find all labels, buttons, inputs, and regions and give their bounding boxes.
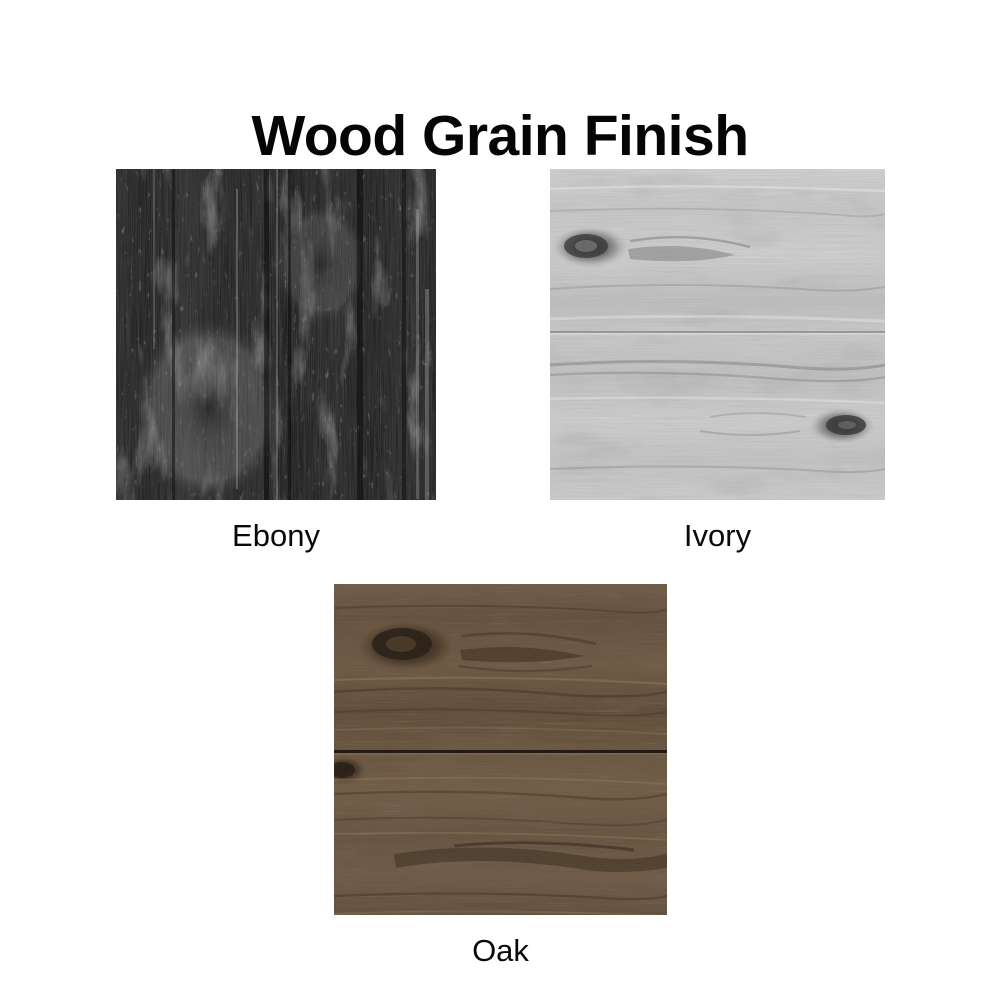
swatch-ebony[interactable]: Ebony <box>116 169 436 500</box>
page-title: Wood Grain Finish <box>0 101 1000 171</box>
swatch-oak[interactable]: Oak <box>334 584 667 915</box>
swatch-ivory[interactable]: Ivory <box>550 169 885 500</box>
swatch-oak-label: Oak <box>334 933 667 969</box>
ebony-wood-texture <box>116 169 436 500</box>
swatch-ebony-label: Ebony <box>116 518 436 554</box>
swatch-ivory-label: Ivory <box>550 518 885 554</box>
wood-grain-finish-page: Wood Grain Finish <box>0 0 1000 1000</box>
swatch-oak-image[interactable] <box>334 584 667 915</box>
ivory-wood-texture <box>550 169 885 500</box>
swatch-ebony-image[interactable] <box>116 169 436 500</box>
swatch-ivory-image[interactable] <box>550 169 885 500</box>
oak-wood-texture <box>334 584 667 915</box>
